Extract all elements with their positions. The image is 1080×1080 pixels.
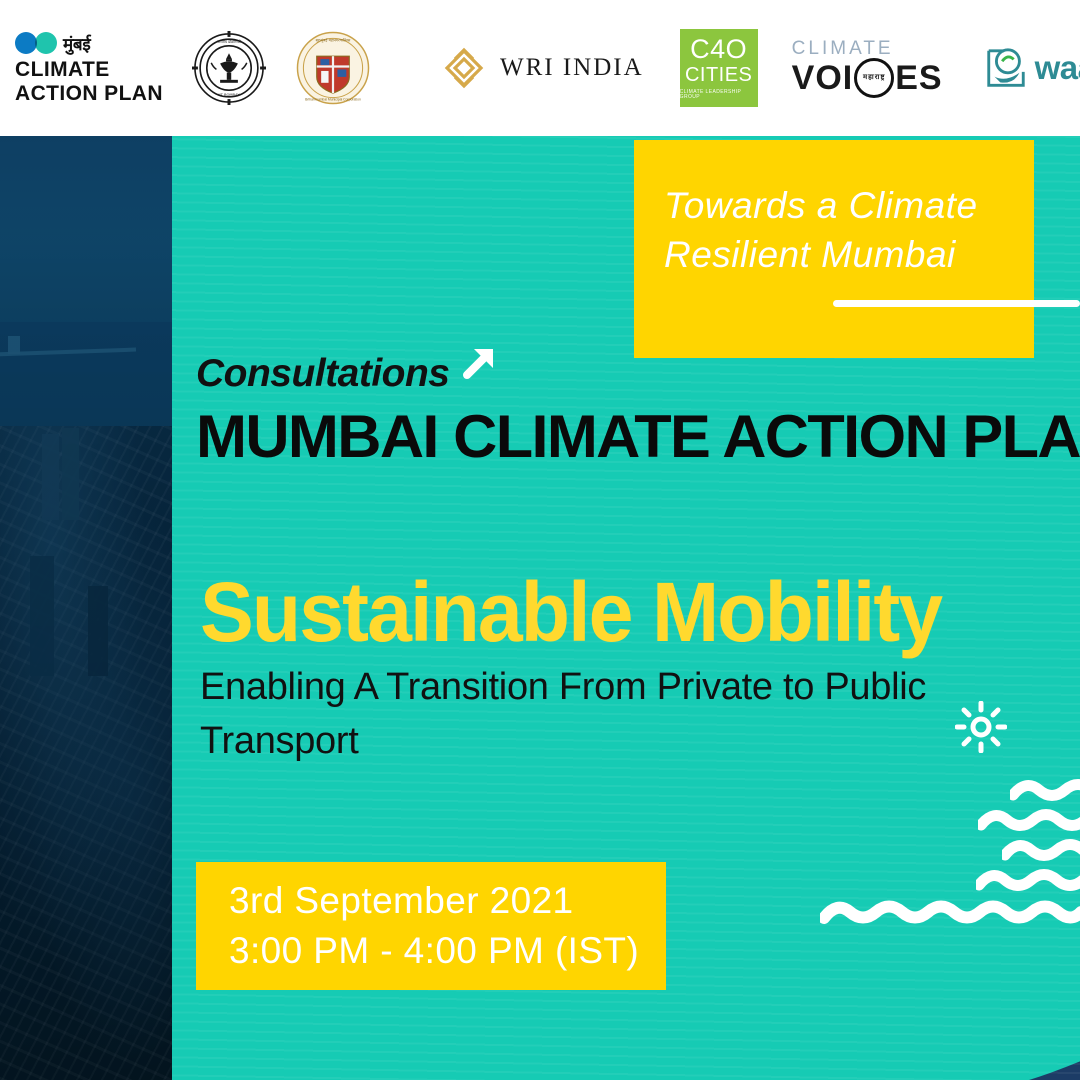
climate-voices-pre: VOI — [792, 61, 854, 95]
logo-iit-bombay: भारतीय प्रौद्योगिकी IIT BOMBAY — [192, 31, 266, 105]
logo-wri-india: WRI INDIA — [442, 46, 644, 90]
climate-voices-line2: VOI महाराष्ट्र ES — [792, 58, 943, 98]
photo-blue-overlay — [0, 136, 172, 1080]
wave-line-icon — [1002, 837, 1080, 868]
mumbai-aerial-photo — [0, 136, 172, 1080]
wave-line-icon — [978, 807, 1080, 838]
arrow-up-right-icon — [456, 340, 502, 391]
consultations-row: Consultations — [196, 352, 502, 396]
tagline-underline — [833, 300, 1080, 307]
iit-bombay-seal-icon: भारतीय प्रौद्योगिकी IIT BOMBAY — [192, 31, 266, 105]
svg-text:Brihanmumbai Municipal Corpora: Brihanmumbai Municipal Corporation — [305, 98, 361, 102]
sun-icon — [955, 701, 1007, 758]
mcap-wordmark-top: मुंबई — [15, 30, 163, 56]
mcap-line2: ACTION PLAN — [15, 82, 163, 106]
topic-subtitle: Enabling A Transition From Private to Pu… — [200, 661, 940, 769]
tagline-box: Towards a Climate Resilient Mumbai — [634, 140, 1034, 358]
c40-line1: C4O — [690, 36, 747, 63]
event-time: 3:00 PM - 4:00 PM (IST) — [229, 926, 666, 976]
climate-voices-post: ES — [895, 61, 942, 95]
poster-canvas: Towards a Climate Resilient Mumbai Consu… — [0, 136, 1080, 1080]
poster-root: मुंबई CLIMATE ACTION PLAN — [0, 0, 1080, 1080]
logo-c40-cities: C4O CITIES CLIMATE LEADERSHIP GROUP — [680, 29, 758, 107]
wave-line-icon — [976, 867, 1080, 898]
c40-line2: CITIES — [685, 65, 752, 85]
wave-line-icon — [820, 897, 1080, 932]
wri-knot-icon — [442, 46, 486, 90]
waatavaran-wordmark: waatavaran — [1035, 49, 1080, 87]
bmc-seal-icon: बृहन्मुंबई महानगरपालिका Brihanmumbai Mun… — [296, 31, 370, 105]
logo-climate-voices: CLIMATE VOI महाराष्ट्र ES — [792, 39, 943, 98]
event-date: 3rd September 2021 — [229, 876, 666, 926]
logo-bmc: बृहन्मुंबई महानगरपालिका Brihanmumbai Mun… — [296, 31, 370, 105]
mcap-line1: CLIMATE — [15, 58, 163, 82]
waatavaran-leaf-icon — [983, 45, 1029, 91]
mcap-hindi-label: मुंबई — [63, 32, 90, 55]
svg-text:भारतीय प्रौद्योगिकी: भारतीय प्रौद्योगिकी — [217, 39, 242, 44]
topic-title: Sustainable Mobility — [200, 570, 941, 654]
climate-voices-ring-icon: महाराष्ट्र — [854, 58, 894, 98]
mcap-dots-icon — [15, 32, 57, 54]
partner-logo-bar: मुंबई CLIMATE ACTION PLAN — [0, 0, 1080, 136]
wave-line-icon — [1010, 777, 1080, 808]
tagline-text: Towards a Climate Resilient Mumbai — [664, 182, 1024, 280]
wri-india-wordmark: WRI INDIA — [500, 54, 644, 82]
svg-text:IIT BOMBAY: IIT BOMBAY — [218, 93, 240, 97]
logo-mumbai-climate-action-plan: मुंबई CLIMATE ACTION PLAN — [14, 30, 164, 105]
event-datetime-box: 3rd September 2021 3:00 PM - 4:00 PM (IS… — [196, 862, 666, 990]
page-title: MUMBAI CLIMATE ACTION PLAN — [196, 402, 1080, 471]
logo-waatavaran: waatavaran — [983, 45, 1080, 91]
climate-voices-line1: CLIMATE — [792, 39, 943, 58]
c40-tagline: CLIMATE LEADERSHIP GROUP — [680, 90, 758, 100]
eyebrow-label: Consultations — [196, 352, 450, 396]
